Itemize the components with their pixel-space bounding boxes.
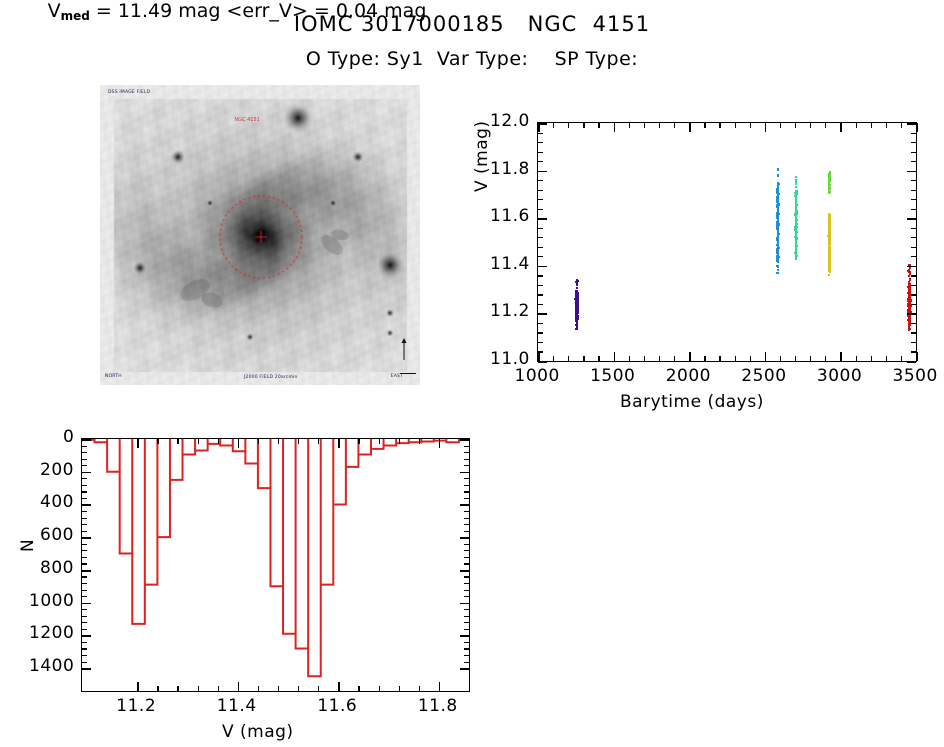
data-point bbox=[795, 176, 797, 178]
axis-tick bbox=[82, 642, 87, 643]
axis-tick bbox=[460, 570, 469, 572]
axis-tick bbox=[82, 504, 91, 506]
data-point bbox=[828, 234, 830, 236]
axis-tick bbox=[82, 544, 87, 545]
axis-tick-label: 1000 bbox=[515, 366, 560, 386]
axis-tick-label: 11.0 bbox=[490, 349, 530, 369]
histogram-outline bbox=[82, 439, 469, 691]
data-point bbox=[829, 243, 831, 245]
data-point bbox=[575, 306, 577, 308]
axis-tick bbox=[439, 439, 441, 448]
data-point bbox=[576, 279, 578, 281]
axis-tick bbox=[538, 352, 540, 361]
axis-tick bbox=[82, 563, 87, 564]
data-point bbox=[829, 216, 831, 218]
axis-tick bbox=[911, 180, 916, 181]
axis-tick bbox=[911, 152, 916, 153]
axis-tick bbox=[907, 313, 916, 315]
data-point bbox=[795, 183, 797, 185]
axis-tick bbox=[538, 123, 547, 125]
axis-tick bbox=[911, 304, 916, 305]
axis-tick bbox=[464, 590, 469, 591]
axis-tick bbox=[538, 266, 547, 268]
axis-tick bbox=[840, 123, 842, 132]
axis-tick bbox=[538, 171, 547, 173]
axis-tick bbox=[795, 356, 796, 361]
axis-tick bbox=[659, 123, 660, 128]
axis-tick bbox=[674, 356, 675, 361]
data-point bbox=[828, 230, 830, 232]
data-point bbox=[777, 272, 779, 274]
data-point bbox=[795, 201, 797, 203]
data-point bbox=[777, 226, 779, 228]
axis-tick bbox=[464, 662, 469, 663]
data-point bbox=[795, 230, 797, 232]
axis-tick bbox=[464, 524, 469, 525]
axis-tick-label: 400 bbox=[40, 492, 74, 512]
axis-tick bbox=[598, 123, 599, 128]
axis-tick-label: 200 bbox=[40, 460, 74, 480]
axis-tick bbox=[464, 544, 469, 545]
axis-tick bbox=[318, 439, 319, 444]
axis-tick bbox=[614, 123, 616, 132]
axis-tick bbox=[553, 356, 554, 361]
axis-tick bbox=[795, 123, 796, 128]
data-point bbox=[575, 295, 577, 297]
axis-tick bbox=[460, 439, 469, 441]
axis-tick bbox=[704, 123, 705, 128]
data-point bbox=[777, 169, 779, 171]
axis-tick bbox=[538, 285, 543, 286]
axis-tick bbox=[871, 123, 872, 128]
axis-tick-label: 2000 bbox=[666, 366, 711, 386]
data-point bbox=[576, 284, 578, 286]
axis-tick bbox=[198, 686, 199, 691]
axis-tick bbox=[464, 576, 469, 577]
data-point bbox=[829, 251, 831, 253]
axis-tick-label: 0 bbox=[63, 427, 74, 447]
axis-tick-label: 3000 bbox=[817, 366, 862, 386]
data-point bbox=[909, 318, 911, 320]
axis-tick bbox=[689, 123, 691, 132]
axis-tick bbox=[907, 218, 916, 220]
axis-tick bbox=[735, 356, 736, 361]
axis-tick bbox=[886, 123, 887, 128]
data-point bbox=[777, 235, 779, 237]
axis-tick bbox=[82, 459, 87, 460]
axis-tick bbox=[911, 142, 916, 143]
axis-tick bbox=[157, 439, 158, 444]
data-point bbox=[795, 214, 797, 216]
axis-tick bbox=[825, 123, 826, 128]
axis-tick bbox=[568, 356, 569, 361]
axis-tick bbox=[916, 123, 918, 132]
axis-tick-label: 11.4 bbox=[217, 696, 257, 716]
data-point bbox=[795, 244, 797, 246]
axis-tick bbox=[82, 491, 87, 492]
data-point bbox=[828, 239, 830, 241]
axis-tick bbox=[464, 531, 469, 532]
axis-tick bbox=[735, 123, 736, 128]
axis-tick bbox=[278, 439, 279, 444]
data-point bbox=[795, 196, 797, 198]
axis-tick bbox=[460, 537, 469, 539]
axis-tick bbox=[780, 356, 781, 361]
chart-label-bottom-left: NORTH bbox=[105, 374, 122, 379]
axis-tick bbox=[538, 256, 543, 257]
data-point bbox=[828, 274, 830, 276]
axis-tick bbox=[464, 629, 469, 630]
data-point bbox=[577, 301, 579, 303]
axis-tick bbox=[358, 686, 359, 691]
data-point bbox=[777, 208, 779, 210]
data-point bbox=[828, 181, 830, 183]
data-point bbox=[828, 175, 830, 177]
axis-tick bbox=[464, 465, 469, 466]
axis-tick-label: 11.4 bbox=[490, 254, 530, 274]
axis-tick bbox=[553, 123, 554, 128]
data-point bbox=[576, 314, 578, 316]
finding-chart: DSS IMAGE FIELD NORTH J2000 FIELD 20arcm… bbox=[100, 85, 420, 385]
axis-tick bbox=[644, 356, 645, 361]
axis-tick-label: 600 bbox=[40, 525, 74, 545]
axis-tick bbox=[82, 609, 87, 610]
axis-tick bbox=[460, 668, 469, 670]
axis-tick bbox=[538, 323, 543, 324]
axis-tick bbox=[137, 682, 139, 691]
data-point bbox=[777, 189, 779, 191]
dss-image bbox=[100, 85, 420, 385]
axis-tick bbox=[338, 439, 340, 448]
axis-tick bbox=[177, 686, 178, 691]
axis-tick bbox=[82, 622, 87, 623]
axis-tick bbox=[399, 439, 400, 444]
axis-tick bbox=[598, 356, 599, 361]
axis-tick bbox=[750, 123, 751, 128]
axis-tick bbox=[464, 557, 469, 558]
axis-tick bbox=[82, 629, 87, 630]
lightcurve-y-axis-label: V (mag) bbox=[472, 120, 492, 192]
axis-tick bbox=[538, 218, 547, 220]
data-point bbox=[576, 287, 578, 289]
axis-tick bbox=[568, 123, 569, 128]
data-point bbox=[795, 247, 797, 249]
data-point bbox=[909, 279, 911, 281]
histogram-bars bbox=[82, 439, 469, 691]
axis-tick bbox=[911, 199, 916, 200]
data-point bbox=[777, 229, 779, 231]
axis-tick bbox=[538, 304, 543, 305]
histogram-y-axis-label: N bbox=[18, 539, 38, 552]
axis-tick bbox=[157, 686, 158, 691]
axis-tick bbox=[82, 570, 91, 572]
data-point bbox=[777, 197, 779, 199]
axis-tick bbox=[464, 655, 469, 656]
axis-tick bbox=[765, 352, 767, 361]
axis-tick bbox=[82, 498, 87, 499]
axis-tick bbox=[82, 537, 91, 539]
axis-tick bbox=[379, 439, 380, 444]
axis-tick bbox=[464, 446, 469, 447]
axis-tick bbox=[82, 583, 87, 584]
axis-tick bbox=[218, 686, 219, 691]
data-point bbox=[828, 185, 830, 187]
axis-tick bbox=[911, 237, 916, 238]
axis-tick bbox=[82, 662, 87, 663]
axis-tick bbox=[82, 635, 91, 637]
data-point bbox=[828, 248, 830, 250]
data-point bbox=[576, 327, 578, 329]
axis-tick bbox=[780, 123, 781, 128]
axis-tick bbox=[464, 642, 469, 643]
axis-tick bbox=[464, 583, 469, 584]
data-point bbox=[777, 192, 779, 194]
axis-tick bbox=[464, 452, 469, 453]
object-type-line: O Type: Sy1 Var Type: SP Type: bbox=[0, 48, 944, 70]
data-point bbox=[828, 260, 830, 262]
axis-tick bbox=[538, 275, 543, 276]
axis-tick bbox=[82, 485, 87, 486]
axis-tick bbox=[886, 356, 887, 361]
axis-tick bbox=[911, 133, 916, 134]
axis-tick bbox=[538, 133, 543, 134]
axis-tick bbox=[901, 123, 902, 128]
axis-tick bbox=[399, 686, 400, 691]
data-point bbox=[777, 200, 779, 202]
axis-tick-label: 1200 bbox=[29, 623, 74, 643]
axis-tick-label: 3500 bbox=[893, 366, 938, 386]
histogram-x-axis-label: V (mag) bbox=[222, 722, 294, 742]
data-point bbox=[829, 177, 831, 179]
axis-tick bbox=[82, 668, 91, 670]
axis-tick-label: 11.8 bbox=[490, 159, 530, 179]
axis-tick bbox=[82, 616, 87, 617]
data-point bbox=[795, 235, 797, 237]
axis-tick bbox=[538, 190, 543, 191]
axis-tick bbox=[177, 439, 178, 444]
axis-tick bbox=[614, 352, 616, 361]
axis-tick bbox=[583, 356, 584, 361]
data-point bbox=[777, 174, 779, 176]
axis-tick bbox=[538, 161, 543, 162]
axis-tick bbox=[911, 275, 916, 276]
axis-tick bbox=[659, 356, 660, 361]
axis-tick bbox=[82, 655, 87, 656]
data-point bbox=[908, 300, 910, 302]
data-point bbox=[575, 281, 577, 283]
data-point bbox=[777, 241, 779, 243]
axis-tick bbox=[464, 563, 469, 564]
axis-tick-label: 1500 bbox=[590, 366, 635, 386]
axis-tick bbox=[82, 465, 87, 466]
axis-tick bbox=[298, 439, 299, 444]
axis-tick-label: 800 bbox=[40, 558, 74, 578]
axis-tick bbox=[464, 459, 469, 460]
page-title: IOMC 3017000185 NGC 4151 bbox=[0, 12, 944, 36]
axis-tick bbox=[238, 439, 240, 448]
data-point bbox=[828, 257, 830, 259]
axis-tick bbox=[464, 518, 469, 519]
data-point bbox=[777, 257, 779, 259]
data-point bbox=[795, 238, 797, 240]
axis-tick bbox=[258, 439, 259, 444]
data-point bbox=[795, 218, 797, 220]
data-point bbox=[908, 289, 910, 291]
axis-tick bbox=[464, 622, 469, 623]
data-point bbox=[777, 254, 779, 256]
data-point bbox=[829, 271, 831, 273]
axis-tick bbox=[719, 356, 720, 361]
data-point bbox=[777, 248, 779, 250]
axis-tick-label: 1000 bbox=[29, 591, 74, 611]
data-point bbox=[777, 269, 779, 271]
data-point bbox=[776, 222, 778, 224]
axis-tick bbox=[538, 237, 543, 238]
axis-tick bbox=[629, 123, 630, 128]
lightcurve-x-axis-label: Barytime (days) bbox=[620, 392, 764, 412]
axis-tick bbox=[856, 356, 857, 361]
data-point bbox=[795, 190, 797, 192]
axis-tick bbox=[218, 439, 219, 444]
axis-tick bbox=[238, 682, 240, 691]
axis-tick bbox=[460, 603, 469, 605]
axis-tick bbox=[674, 123, 675, 128]
axis-tick bbox=[911, 294, 916, 295]
axis-tick bbox=[810, 123, 811, 128]
axis-tick bbox=[464, 596, 469, 597]
axis-tick bbox=[840, 352, 842, 361]
axis-tick bbox=[911, 247, 916, 248]
object-name-overlay: NGC 4151 bbox=[234, 117, 259, 123]
axis-tick bbox=[689, 352, 691, 361]
data-point bbox=[576, 291, 578, 293]
axis-tick bbox=[358, 439, 359, 444]
axis-tick bbox=[82, 531, 87, 532]
data-point bbox=[777, 266, 779, 268]
axis-tick bbox=[82, 576, 87, 577]
axis-tick bbox=[538, 332, 543, 333]
axis-tick bbox=[278, 686, 279, 691]
scale-bar bbox=[400, 373, 416, 375]
axis-tick bbox=[538, 342, 543, 343]
axis-tick bbox=[82, 557, 87, 558]
axis-tick bbox=[464, 478, 469, 479]
chart-label-top-left: DSS IMAGE FIELD bbox=[108, 90, 150, 95]
axis-tick bbox=[338, 682, 340, 691]
data-point bbox=[795, 242, 797, 244]
axis-tick bbox=[629, 356, 630, 361]
axis-tick bbox=[198, 439, 199, 444]
axis-tick bbox=[750, 356, 751, 361]
axis-tick bbox=[901, 356, 902, 361]
axis-tick bbox=[298, 686, 299, 691]
axis-tick bbox=[538, 351, 543, 352]
axis-tick bbox=[825, 356, 826, 361]
axis-tick bbox=[538, 209, 543, 210]
axis-tick bbox=[258, 686, 259, 691]
axis-tick bbox=[538, 361, 547, 363]
axis-tick bbox=[460, 635, 469, 637]
axis-tick bbox=[82, 603, 91, 605]
axis-tick bbox=[538, 228, 543, 229]
axis-tick bbox=[911, 323, 916, 324]
axis-tick bbox=[82, 518, 87, 519]
axis-tick bbox=[538, 247, 543, 248]
axis-tick bbox=[82, 472, 91, 474]
axis-tick bbox=[464, 648, 469, 649]
axis-tick bbox=[82, 446, 87, 447]
axis-tick bbox=[464, 491, 469, 492]
chart-label-bottom-center: J2000 FIELD 20arcmin bbox=[244, 375, 298, 380]
axis-tick bbox=[644, 123, 645, 128]
axis-tick bbox=[137, 439, 139, 448]
axis-tick-label: 1400 bbox=[29, 656, 74, 676]
data-point bbox=[777, 203, 779, 205]
data-point bbox=[776, 212, 778, 214]
data-point bbox=[795, 186, 797, 188]
axis-tick bbox=[439, 682, 441, 691]
axis-tick-label: 2500 bbox=[741, 366, 786, 386]
axis-tick bbox=[318, 686, 319, 691]
axis-tick bbox=[538, 199, 543, 200]
data-point bbox=[575, 312, 577, 314]
compass-icon bbox=[397, 338, 411, 360]
axis-tick bbox=[82, 478, 87, 479]
lightcurve-plot bbox=[537, 122, 917, 362]
axis-tick bbox=[538, 152, 543, 153]
axis-tick bbox=[419, 439, 420, 444]
data-point bbox=[795, 204, 797, 206]
axis-tick bbox=[907, 123, 916, 125]
axis-tick bbox=[82, 452, 87, 453]
axis-tick bbox=[82, 439, 91, 441]
axis-tick bbox=[871, 356, 872, 361]
data-point bbox=[795, 232, 797, 234]
axis-tick bbox=[911, 351, 916, 352]
axis-tick bbox=[911, 342, 916, 343]
axis-tick bbox=[583, 123, 584, 128]
axis-tick bbox=[916, 352, 918, 361]
axis-tick bbox=[379, 686, 380, 691]
data-point bbox=[829, 268, 831, 270]
axis-tick bbox=[464, 609, 469, 610]
axis-tick bbox=[82, 511, 87, 512]
axis-tick bbox=[460, 504, 469, 506]
axis-tick bbox=[765, 123, 767, 132]
data-point bbox=[777, 217, 779, 219]
data-point bbox=[908, 328, 910, 330]
lightcurve-points bbox=[538, 123, 916, 361]
axis-tick-label: 12.0 bbox=[490, 111, 530, 131]
axis-tick bbox=[911, 332, 916, 333]
axis-tick-label: 11.8 bbox=[418, 696, 458, 716]
data-point bbox=[795, 179, 797, 181]
data-point bbox=[909, 308, 911, 310]
axis-tick bbox=[907, 361, 916, 363]
axis-tick bbox=[82, 590, 87, 591]
axis-tick-label: 11.6 bbox=[490, 206, 530, 226]
chart-label-bottom-right: EAST bbox=[391, 374, 403, 379]
data-point bbox=[794, 252, 796, 254]
axis-tick bbox=[911, 209, 916, 210]
magnitude-histogram-plot bbox=[81, 438, 470, 692]
data-point bbox=[795, 207, 797, 209]
axis-tick bbox=[82, 648, 87, 649]
axis-tick-label: 11.6 bbox=[317, 696, 357, 716]
axis-tick-label: 11.2 bbox=[490, 301, 530, 321]
axis-tick bbox=[907, 171, 916, 173]
data-point bbox=[828, 192, 830, 194]
